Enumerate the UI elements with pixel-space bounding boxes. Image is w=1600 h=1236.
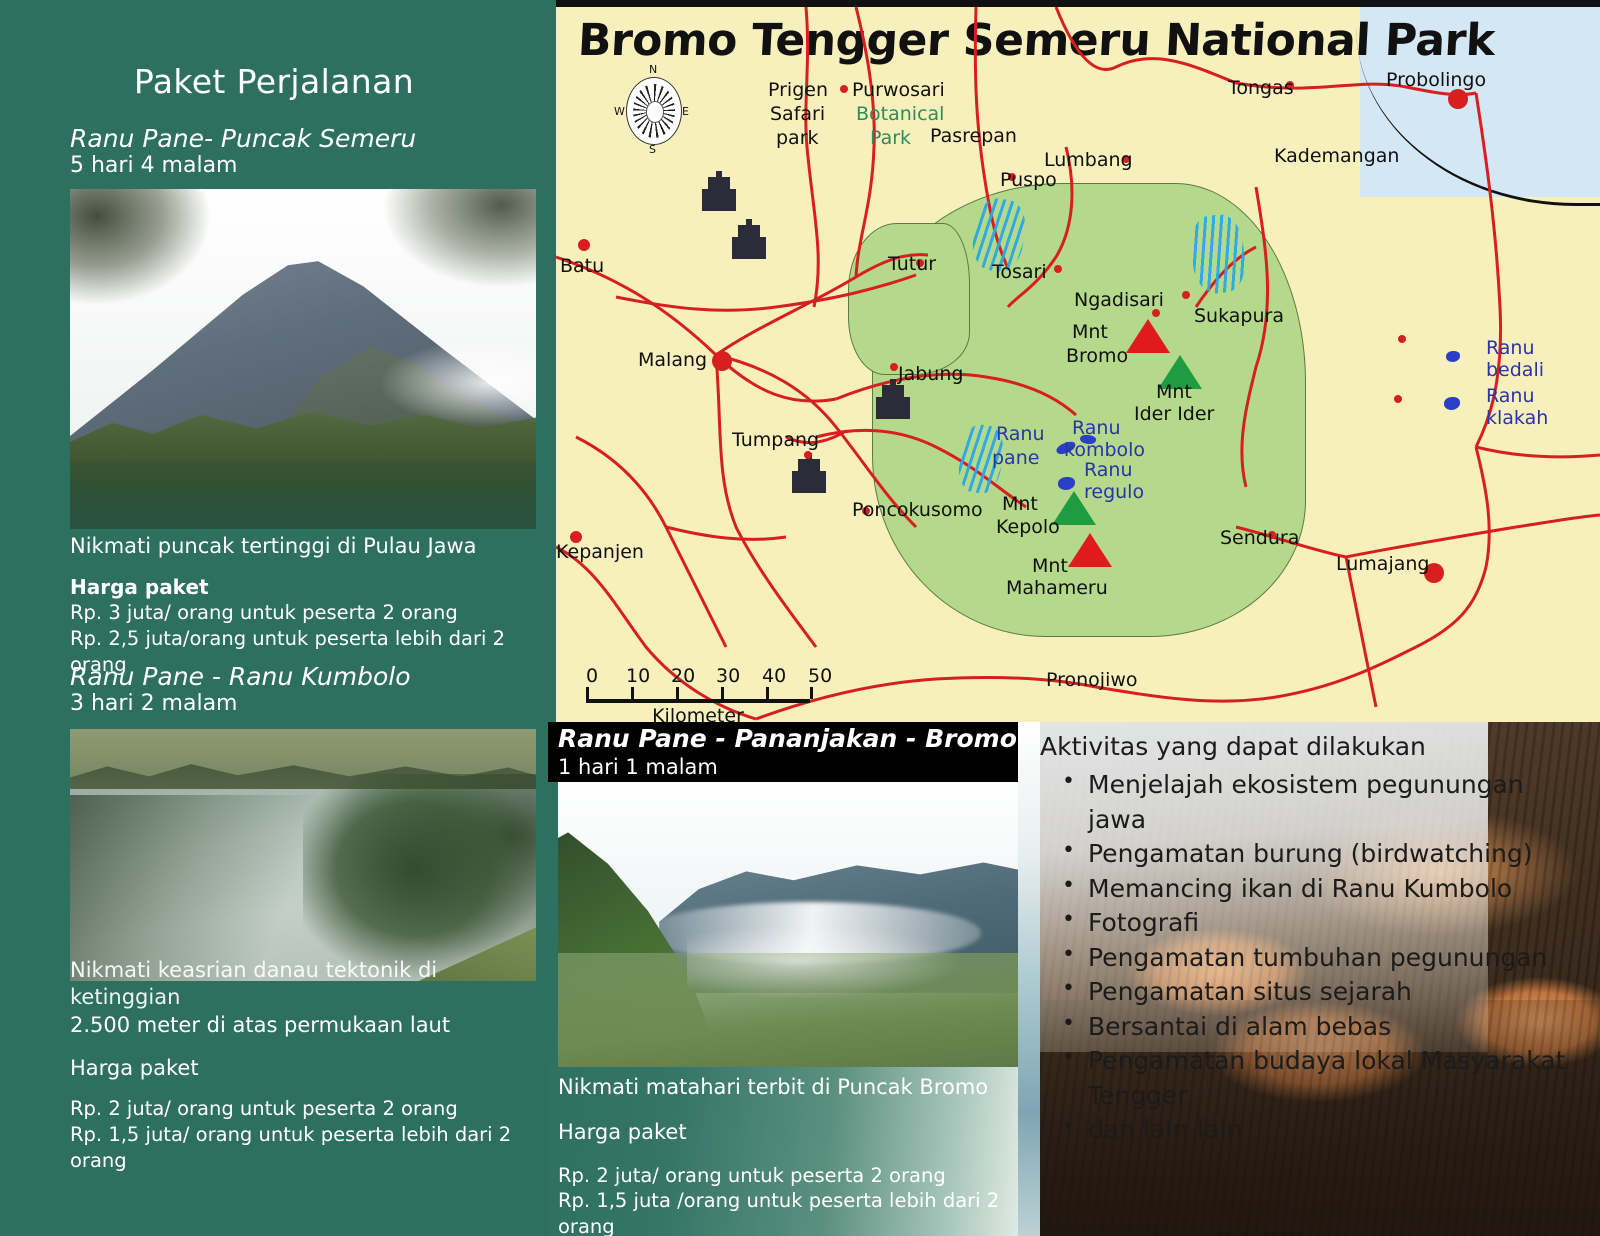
package-2-caption-line1: Nikmati keasrian danau tektonik di ketin… bbox=[70, 957, 540, 1012]
map-label-sendura: Sendura bbox=[1220, 527, 1299, 549]
map-label-puspo: Puspo bbox=[1000, 169, 1057, 191]
map-label-tumpang: Tumpang bbox=[732, 429, 819, 451]
map-label-jabung: Jabung bbox=[898, 363, 963, 385]
map-dot-tosari bbox=[1054, 265, 1062, 273]
map-label-ranu-pane-2: pane bbox=[992, 447, 1039, 469]
map-label-tutur: Tutur bbox=[888, 253, 936, 275]
map-dot-probolingo bbox=[1448, 89, 1468, 109]
activity-item: Pengamatan budaya lokal Masyarakat Tengg… bbox=[1040, 1044, 1580, 1113]
activity-item: Fotografi bbox=[1040, 906, 1580, 941]
photo-haze bbox=[378, 339, 536, 427]
map-label-lumajang: Lumajang bbox=[1336, 553, 1429, 575]
map-label-mahameru-1: Mnt bbox=[1032, 555, 1068, 577]
map-dot-sukapura bbox=[1182, 291, 1190, 299]
package-3-price-heading: Harga paket bbox=[558, 1119, 1010, 1146]
activity-item: Bersantai di alam bebas bbox=[1040, 1010, 1580, 1045]
package-2-heading: Ranu Pane - Ranu Kumbolo 3 hari 2 malam bbox=[70, 663, 411, 717]
map-label-ranu-kombolo-2: kombolo bbox=[1064, 439, 1145, 461]
map-label-mnt-bromo-2: Bromo bbox=[1066, 345, 1128, 367]
page-title: Paket Perjalanan bbox=[0, 62, 548, 101]
activities-left-edge bbox=[1018, 722, 1040, 1236]
map-label-ranu-klakah-1: Ranu bbox=[1486, 385, 1535, 407]
package-1-caption: Nikmati puncak tertinggi di Pulau Jawa bbox=[70, 533, 540, 560]
package-2-caption-line2: 2.500 meter di atas permukaan laut bbox=[70, 1012, 540, 1039]
map-volcano-mahameru-icon bbox=[1068, 533, 1112, 567]
activity-item: Pengamatan tumbuhan pegunungan bbox=[1040, 941, 1580, 976]
photo-forest-shadow bbox=[70, 461, 536, 529]
map-label-kepolo-1: Mnt bbox=[1002, 493, 1038, 515]
map-dot-batu bbox=[578, 239, 590, 251]
package-3-price-1: Rp. 2 juta/ orang untuk peserta 2 orang bbox=[558, 1163, 1010, 1189]
activity-item: Pengamatan burung (birdwatching) bbox=[1040, 837, 1580, 872]
map-dot-purwosari bbox=[840, 85, 848, 93]
package-1-details: Nikmati puncak tertinggi di Pulau Jawa H… bbox=[70, 533, 540, 678]
package-2-details: Nikmati keasrian danau tektonik di ketin… bbox=[70, 957, 540, 1173]
scale-tick-50: 50 bbox=[808, 665, 832, 687]
map-label-purwosari: Purwosari bbox=[852, 79, 945, 101]
bromo-caldera-sunrise-photo bbox=[558, 782, 1018, 1067]
photo-branch-right bbox=[378, 189, 536, 291]
package-2-price-heading: Harga paket bbox=[70, 1055, 540, 1082]
national-park-map: Bromo Tengger Semeru National Park N S E… bbox=[556, 0, 1600, 729]
package-3-price-2: Rp. 1,5 juta /orang untuk peserta lebih … bbox=[558, 1188, 1010, 1236]
map-label-ranu-bedali-1: Ranu bbox=[1486, 337, 1535, 359]
map-dot-ranu-bedali-road bbox=[1398, 335, 1406, 343]
map-label-mnt-bromo-1: Mnt bbox=[1072, 321, 1108, 343]
map-label-poncokusomo: Poncokusomo bbox=[852, 499, 983, 521]
brochure-page: Paket Perjalanan Ranu Pane- Puncak Semer… bbox=[0, 0, 1600, 1236]
scale-tick-40: 40 bbox=[762, 665, 786, 687]
package-3-duration: 1 hari 1 malam bbox=[558, 755, 718, 779]
map-road-network bbox=[556, 7, 1600, 729]
map-label-probolingo: Probolingo bbox=[1386, 69, 1486, 91]
photo-branch-left bbox=[70, 189, 219, 311]
photo-water-reflection bbox=[70, 795, 331, 981]
activities-title: Aktivitas yang dapat dilakukan bbox=[1040, 732, 1426, 761]
map-label-pasrepan: Pasrepan bbox=[930, 125, 1017, 147]
map-label-ranu-regulo-2: regulo bbox=[1084, 481, 1144, 503]
package-1-price-heading: Harga paket bbox=[70, 574, 540, 600]
package-3-name: Ranu Pane - Pananjakan - Bromo bbox=[558, 724, 1017, 753]
package-2-name: Ranu Pane - Ranu Kumbolo bbox=[70, 663, 411, 691]
map-label-botanical: Botanical bbox=[856, 103, 944, 125]
map-volcano-bromo-icon bbox=[1126, 319, 1170, 353]
scale-axis bbox=[586, 687, 810, 703]
packages-sidebar: Paket Perjalanan Ranu Pane- Puncak Semer… bbox=[0, 0, 548, 1236]
package-3-caption: Nikmati matahari terbit di Puncak Bromo bbox=[558, 1074, 1010, 1101]
map-label-park-prigen: park bbox=[776, 127, 819, 149]
map-dot-jabung bbox=[890, 363, 898, 371]
map-label-ranu-kombolo-1: Ranu bbox=[1072, 417, 1121, 439]
scale-tick-labels: 0 10 20 30 40 50 bbox=[586, 665, 826, 687]
scale-tick-0: 0 bbox=[586, 665, 598, 687]
map-label-sukapura: Sukapura bbox=[1194, 305, 1284, 327]
map-scale-bar: 0 10 20 30 40 50 Kilometer bbox=[586, 665, 826, 727]
map-label-malang: Malang bbox=[638, 349, 707, 371]
package-1-price-1: Rp. 3 juta/ orang untuk peserta 2 orang bbox=[70, 600, 540, 626]
map-label-kepolo-2: Kepolo bbox=[996, 516, 1060, 538]
map-label-kepanjen: Kepanjen bbox=[556, 541, 644, 563]
map-dot-ranu-klakah-road bbox=[1394, 395, 1402, 403]
map-label-ngadisari: Ngadisari bbox=[1074, 289, 1164, 311]
ranu-kumbolo-lake-photo bbox=[70, 729, 536, 981]
map-label-tongas: Tongas bbox=[1228, 77, 1294, 99]
map-dot-malang bbox=[712, 351, 732, 371]
map-label-ider-ider-2: Ider Ider bbox=[1134, 403, 1214, 425]
map-label-tosari: Tosari bbox=[992, 261, 1047, 283]
map-label-ranu-bedali-2: bedali bbox=[1486, 359, 1544, 381]
scale-tick-20: 20 bbox=[671, 665, 695, 687]
semeru-volcano-photo bbox=[70, 189, 536, 529]
package-1-heading: Ranu Pane- Puncak Semeru 5 hari 4 malam bbox=[70, 125, 416, 179]
activity-item: Menjelajah ekosistem pegunungan jawa bbox=[1040, 768, 1580, 837]
activity-item: Memancing ikan di Ranu Kumbolo bbox=[1040, 872, 1580, 907]
scale-tick-10: 10 bbox=[626, 665, 650, 687]
map-label-park-botanical: Park bbox=[870, 127, 911, 149]
map-label-safari: Safari bbox=[770, 103, 825, 125]
package-2-duration: 3 hari 2 malam bbox=[70, 691, 411, 717]
package-1-name: Ranu Pane- Puncak Semeru bbox=[70, 125, 416, 153]
photo-mist bbox=[687, 925, 963, 999]
map-label-ranu-pane-1: Ranu bbox=[996, 423, 1045, 445]
activity-item: Pengamatan situs sejarah bbox=[1040, 975, 1580, 1010]
package-2-price-2: Rp. 1,5 juta/ orang untuk peserta lebih … bbox=[70, 1122, 540, 1173]
activities-list: Menjelajah ekosistem pegunungan jawa Pen… bbox=[1040, 768, 1580, 1148]
package-1-duration: 5 hari 4 malam bbox=[70, 153, 416, 179]
map-label-pronojiwo: Pronojiwo bbox=[1046, 669, 1138, 691]
map-label-batu: Batu bbox=[560, 255, 604, 277]
map-label-prigen: Prigen bbox=[768, 79, 828, 101]
package-2-price-1: Rp. 2 juta/ orang untuk peserta 2 orang bbox=[70, 1096, 540, 1122]
map-label-lumbang: Lumbang bbox=[1044, 149, 1133, 171]
map-label-ranu-klakah-2: klakah bbox=[1486, 407, 1548, 429]
map-label-ranu-regulo-1: Ranu bbox=[1084, 459, 1133, 481]
map-label-ider-ider-1: Mnt bbox=[1156, 381, 1192, 403]
scale-tick-30: 30 bbox=[716, 665, 740, 687]
package-3-details: Nikmati matahari terbit di Puncak Bromo … bbox=[558, 1074, 1010, 1236]
map-dot-tumpang bbox=[804, 451, 812, 459]
activity-item: dan lain-lain bbox=[1040, 1113, 1580, 1148]
map-label-kademangan: Kademangan bbox=[1274, 145, 1399, 167]
map-label-mahameru-2: Mahameru bbox=[1006, 577, 1108, 599]
package-3-panel: Ranu Pane - Pananjakan - Bromo 1 hari 1 … bbox=[548, 722, 1018, 1236]
activities-panel: Aktivitas yang dapat dilakukan Menjelaja… bbox=[1018, 722, 1600, 1236]
